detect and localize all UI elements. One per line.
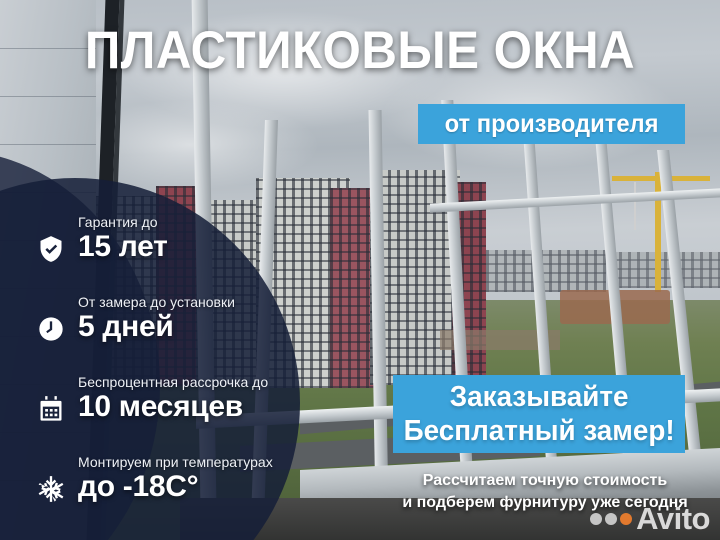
feature-value: 10 месяцев [78,390,243,424]
crane-cable [634,182,636,230]
feature-item-warranty: Гарантия до 15 лет [30,208,290,288]
feature-caption: От замера до установки [78,294,235,310]
feature-list: Гарантия до 15 лет От замера до установк… [30,208,290,528]
cta-line-1: Заказывайте [450,380,629,414]
building-distant [610,252,720,288]
calendar-icon [36,394,66,424]
building-distant [486,250,606,292]
cta-box[interactable]: Заказывайте Бесплатный замер! [393,375,685,453]
snowflake-icon [36,474,66,504]
cta-line-2: Бесплатный замер! [404,414,675,448]
shield-check-icon [36,234,66,264]
feature-caption: Гарантия до [78,214,158,230]
advertisement-banner: ПЛАСТИКОВЫЕ ОКНА от производителя Гарант… [0,0,720,540]
feature-item-install-time: От замера до установки 5 дней [30,288,290,368]
feature-caption: Монтируем при температурах [78,454,273,470]
feature-item-temperature: Монтируем при температурах до -18C° [30,448,290,528]
feature-value: 15 лет [78,230,168,264]
feature-caption: Беспроцентная рассрочка до [78,374,268,390]
cta-subtext-line-1: Рассчитаем точную стоимость [380,470,710,492]
avito-watermark: Avito [590,503,710,534]
manufacturer-badge-label: от производителя [445,110,659,139]
feature-value: до -18C° [78,470,198,504]
clock-icon [36,314,66,344]
feature-item-installments: Беспроцентная рассрочка до 10 месяцев [30,368,290,448]
manufacturer-badge: от производителя [418,104,685,144]
avito-logo-icon [590,513,632,525]
avito-wordmark: Avito [636,503,710,534]
crane-mast [655,172,661,292]
page-title: ПЛАСТИКОВЫЕ ОКНА [25,24,695,77]
feature-value: 5 дней [78,310,174,344]
